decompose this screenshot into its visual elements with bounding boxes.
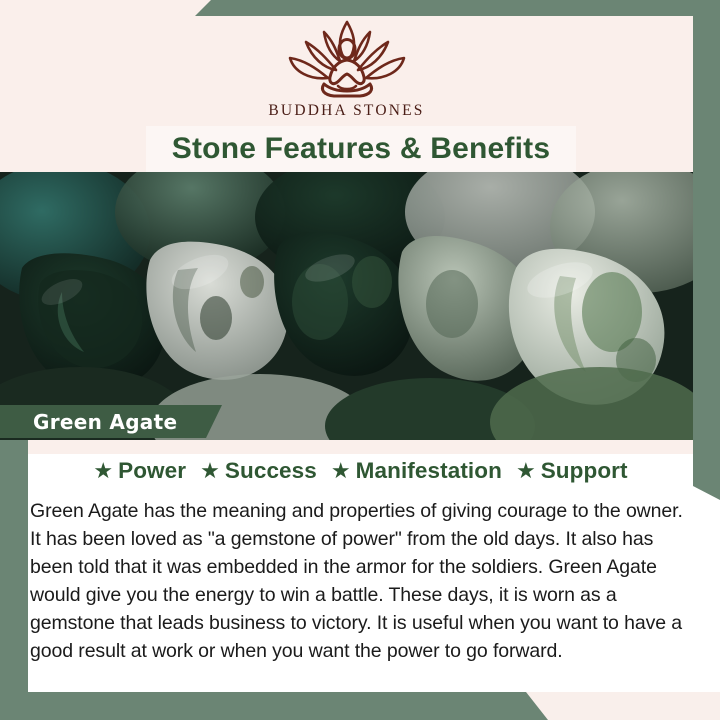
page-title-box: Stone Features & Benefits [146, 126, 576, 172]
green-agate-photo [0, 172, 693, 440]
stone-description: Green Agate has the meaning and properti… [30, 497, 690, 665]
benefits-list: ★ Power ★ Success ★ Manifestation ★ Supp… [28, 458, 693, 484]
benefit-item-manifestation: ★ Manifestation [331, 458, 502, 484]
frame-right-bar [693, 0, 720, 500]
lotus-meditation-icon [0, 16, 693, 100]
panel-top-accent [28, 440, 693, 454]
star-icon: ★ [93, 460, 113, 482]
star-icon: ★ [200, 460, 220, 482]
benefit-item-power: ★ Power [93, 458, 186, 484]
frame-bottom-right-blush [520, 692, 720, 720]
frame-left-bar [0, 440, 28, 720]
benefit-item-success: ★ Success [200, 458, 317, 484]
benefit-label: Manifestation [356, 458, 502, 484]
brand-logo: BUDDHA STONES [0, 16, 693, 120]
star-icon: ★ [331, 460, 351, 482]
brand-name: BUDDHA STONES [0, 102, 693, 120]
page-title: Stone Features & Benefits [172, 132, 550, 166]
stone-name-badge: Green Agate [0, 405, 222, 438]
benefit-label: Power [118, 458, 186, 484]
frame-bottom-bar [0, 692, 548, 720]
content-panel: ★ Power ★ Success ★ Manifestation ★ Supp… [28, 440, 693, 692]
stone-name: Green Agate [0, 410, 177, 434]
star-icon: ★ [516, 460, 536, 482]
frame-top-bar [195, 0, 720, 16]
stone-features-infographic: BUDDHA STONES Stone Features & Benefits [0, 0, 720, 720]
benefit-label: Success [225, 458, 317, 484]
benefit-label: Support [541, 458, 628, 484]
benefit-item-support: ★ Support [516, 458, 628, 484]
